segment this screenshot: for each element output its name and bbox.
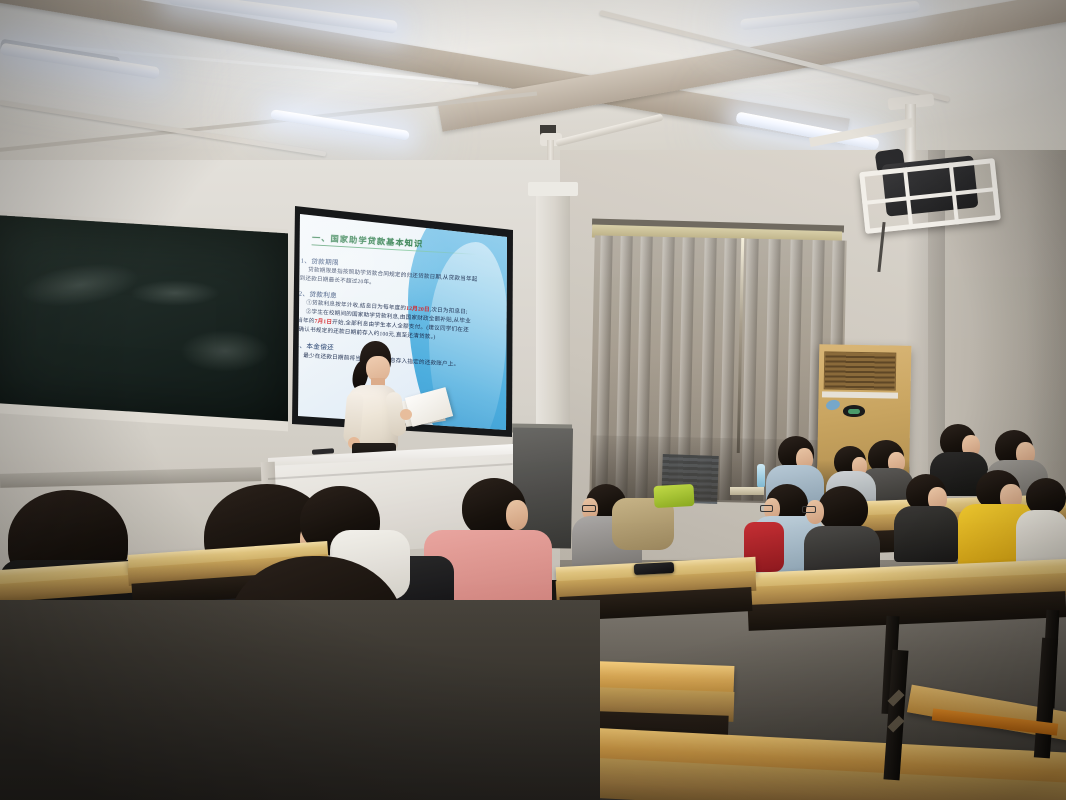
slide-section-label: 本金偿还 (306, 343, 334, 352)
air-conditioner-vent (824, 351, 897, 390)
chalk-smudge (180, 330, 270, 372)
classroom-photo: 一、国家助学贷款基本知识 1、贷款期限 贷款期限是指按照助学贷款合同规定的归还贷… (0, 0, 1066, 800)
student-body (894, 506, 958, 562)
slide-section-2-label: 2、贷款利息 (299, 288, 338, 300)
floor-left (0, 600, 600, 800)
highlight-date-2: 7月1日 (314, 319, 332, 326)
presenter-right-hand (400, 409, 412, 420)
slide-section-number: 2、 (299, 291, 310, 299)
slide-section-label: 贷款利息 (309, 291, 337, 300)
projector-pole (905, 104, 916, 170)
student-face (506, 500, 528, 530)
eyeglasses-icon (802, 506, 816, 513)
slide-section-3-label: 3、本金偿还 (296, 340, 335, 352)
wall-pillar-cap (528, 182, 578, 196)
slide-text-post: ,次日为扣息日; (430, 307, 468, 315)
eyeglasses-icon (582, 505, 596, 512)
slide-text-pre: 当年的 (297, 318, 315, 325)
slide-section-1-label: 1、贷款期限 (300, 255, 339, 267)
green-chair-back (653, 484, 694, 508)
highlight-date-1: 12月20日 (406, 306, 430, 313)
slide-section-number: 1、 (300, 258, 311, 266)
eyeglasses-icon (760, 505, 773, 512)
air-conditioner-badge-inner (848, 409, 860, 414)
blackboard (0, 215, 288, 430)
water-bottle[interactable] (757, 464, 765, 488)
smartphone[interactable] (634, 562, 675, 575)
slide-section-label: 贷款期限 (311, 258, 339, 267)
chalk-smudge (130, 280, 220, 306)
stacked-books (730, 487, 764, 495)
